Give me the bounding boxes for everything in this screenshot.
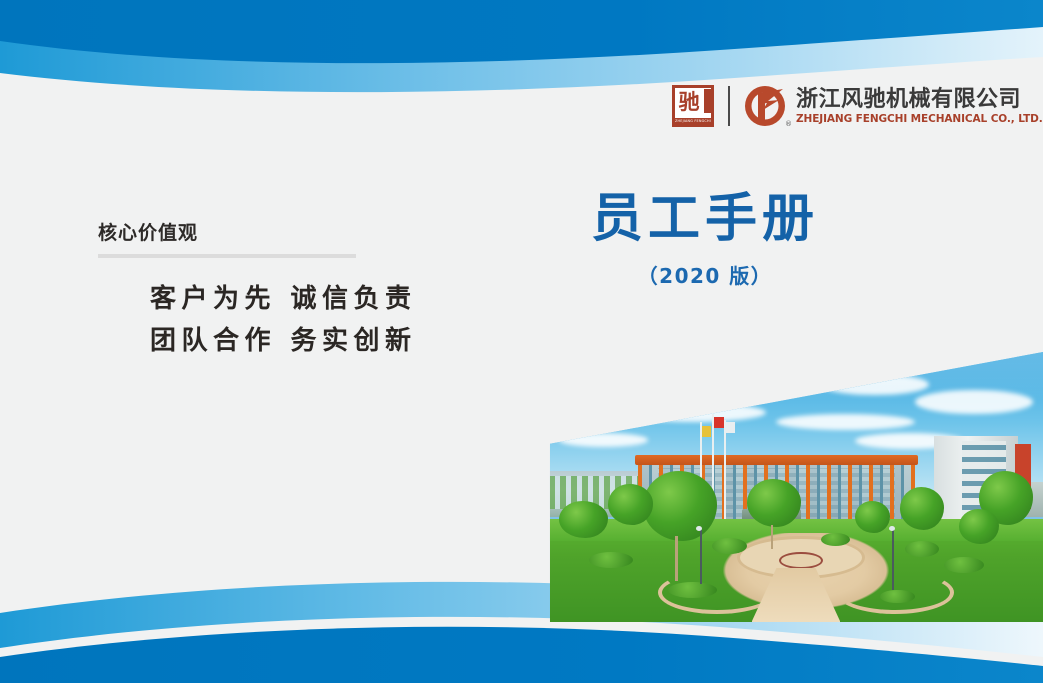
- campus-photo-inner: [549, 352, 1043, 622]
- page-subtitle: （2020 版）: [560, 260, 850, 289]
- cloud-shape: [677, 360, 805, 379]
- cloud-shape: [821, 374, 930, 396]
- handbook-cover-page: 驰 ZHEJIANG FENGCHI MECHANICAL ® 浙江风驰机械有限…: [0, 0, 1043, 683]
- cloud-shape: [569, 368, 668, 392]
- tree: [643, 471, 717, 541]
- core-values-list: 客户为先 诚信负责 团队合作 务实创新: [98, 278, 428, 362]
- shrub: [880, 590, 915, 604]
- tree-trunk: [771, 525, 773, 549]
- tree: [559, 501, 608, 539]
- street-lamp: [892, 530, 894, 589]
- tree-trunk: [675, 536, 678, 582]
- cloud-shape: [915, 390, 1034, 414]
- company-logo-row: 驰 ZHEJIANG FENGCHI MECHANICAL ® 浙江风驰机械有限…: [672, 80, 1038, 132]
- flagpole: [724, 420, 726, 531]
- main-hall-roof: [635, 455, 918, 465]
- tree: [855, 501, 890, 533]
- vertical-divider-icon: [728, 86, 730, 126]
- core-values-line: 团队合作 务实创新: [150, 320, 428, 362]
- seal-glyph: 驰: [676, 87, 702, 117]
- company-name-en: ZHEJIANG FENGCHI MECHANICAL CO., LTD.: [796, 112, 1043, 126]
- seal-base-text: ZHEJIANG FENGCHI MECHANICAL: [675, 118, 711, 125]
- core-values-heading: 核心价值观: [98, 221, 428, 245]
- flag-red: [714, 417, 724, 428]
- core-values-line: 客户为先 诚信负责: [150, 278, 428, 320]
- core-values-divider: [98, 254, 356, 258]
- circle-f-logo-svg: [743, 84, 787, 128]
- tree: [608, 484, 652, 525]
- page-title: 员工手册: [560, 190, 850, 248]
- bottom-dark-band: [0, 627, 1043, 683]
- seal-side-bar: [704, 89, 711, 113]
- shrub: [668, 582, 717, 598]
- cloud-shape: [559, 433, 648, 447]
- company-campus-photo: [549, 352, 1043, 622]
- cover-title-block: 员工手册 （2020 版）: [560, 190, 850, 289]
- tree: [900, 487, 944, 530]
- company-name-block: 浙江风驰机械有限公司 ZHEJIANG FENGCHI MECHANICAL C…: [796, 87, 1038, 126]
- circle-f-logo-icon: ®: [743, 84, 787, 128]
- flag-yellow: [702, 426, 711, 437]
- street-lamp: [700, 530, 702, 584]
- registered-trademark-icon: ®: [785, 120, 792, 128]
- square-seal-mark: 驰 ZHEJIANG FENGCHI MECHANICAL: [672, 85, 714, 127]
- shrub: [589, 552, 633, 568]
- tree: [959, 509, 999, 544]
- street-lamp-head: [889, 526, 895, 531]
- core-values-block: 核心价值观 客户为先 诚信负责 团队合作 务实创新: [98, 221, 428, 362]
- company-name-cn: 浙江风驰机械有限公司: [796, 87, 1038, 112]
- flag-white: [726, 422, 735, 433]
- top-dark-band: [0, 0, 1043, 63]
